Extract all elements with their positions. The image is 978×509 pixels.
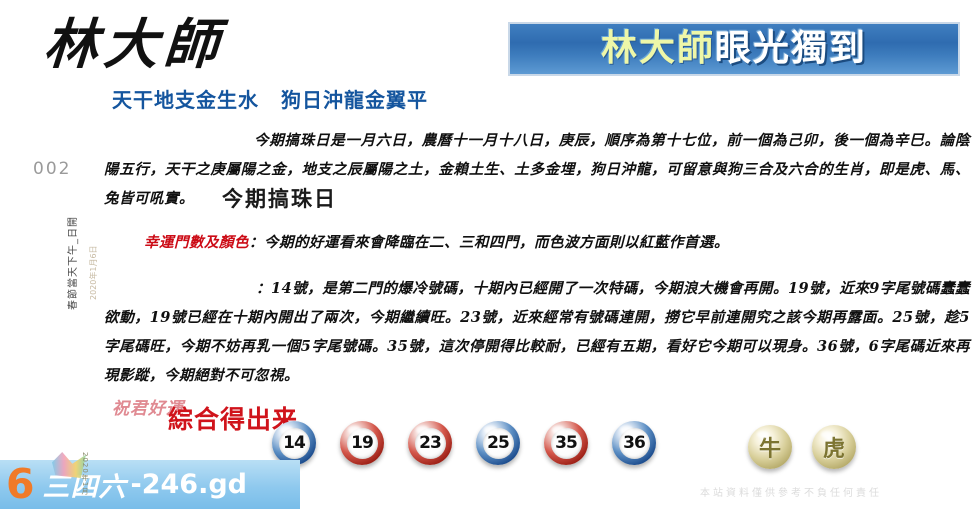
- zodiac-ball[interactable]: 虎: [812, 425, 856, 469]
- lottery-ball[interactable]: 25: [476, 421, 520, 465]
- lottery-ball[interactable]: 14: [272, 421, 316, 465]
- lottery-ball[interactable]: 19: [340, 421, 384, 465]
- masthead: 林大師: [44, 14, 314, 80]
- lottery-ball[interactable]: 23: [408, 421, 452, 465]
- predicted-zodiacs: 牛 虎: [748, 425, 856, 469]
- zodiac-ball[interactable]: 牛: [748, 425, 792, 469]
- banner-highlight-text: 林大師: [601, 28, 715, 69]
- footer-ghost-text: 本站資料僅供參考不負任何責任: [700, 484, 882, 499]
- brand-title: 林大師: [42, 14, 316, 74]
- subtitle-left: 天干地支金生水: [112, 88, 259, 112]
- lottery-tip-page: 林大師 天干地支金生水狗日沖龍金翼平 林大師眼光獨到 002 春節當天下午_日開…: [0, 0, 978, 509]
- ball-number: 14: [283, 433, 305, 453]
- predicted-numbers: 14 19 23 25 35 36: [272, 421, 656, 465]
- zodiac-char: 虎: [823, 431, 845, 463]
- site-domain: -246.gd: [131, 469, 247, 500]
- page-subtitle: 天干地支金生水狗日沖龍金翼平: [112, 84, 428, 113]
- ball-number: 19: [351, 433, 373, 453]
- lucky-body: ：今期的好運看來會降臨在二、三和四門，而色波方面則以紅藍作首選。: [249, 234, 729, 251]
- site-watermark-bar: 6 三四六 -246.gd: [0, 460, 300, 509]
- watermark-vertical-mark: 2020年1月: [80, 452, 90, 495]
- lottery-ball[interactable]: 35: [544, 421, 588, 465]
- ball-number: 36: [623, 433, 645, 453]
- headline-banner: 林大師眼光獨到: [508, 22, 960, 76]
- subtitle-right: 狗日沖龍金翼平: [281, 88, 428, 112]
- zodiac-char: 牛: [759, 431, 781, 463]
- paragraph-lucky: 幸運門數及顏色：今期的好運看來會降臨在二、三和四門，而色波方面則以紅藍作首選。: [104, 228, 970, 257]
- lucky-label: 幸運門數及顏色: [144, 234, 249, 251]
- site-logo-icon: 6: [6, 464, 35, 505]
- ball-number: 35: [555, 433, 577, 453]
- lottery-ball[interactable]: 36: [612, 421, 656, 465]
- paragraph-picks: ：14號，是第二門的爆冷號碼，十期內已經開了一次特碼，今期浪大機會再開。19號，…: [104, 274, 970, 390]
- article-body: 今期搞珠日是一月六日，農曆十一月十八日，庚辰，順序為第十七位，前一個為己卯，後一…: [104, 126, 970, 390]
- overlay-watermark-today: 今期搞珠日: [222, 183, 337, 213]
- spine-label: 春節當天下午_日開: [64, 160, 79, 310]
- spine-date: 2020年1月6日: [88, 180, 99, 300]
- ball-number: 25: [487, 433, 509, 453]
- ball-number: 23: [419, 433, 441, 453]
- banner-rest-text: 眼光獨到: [715, 28, 867, 69]
